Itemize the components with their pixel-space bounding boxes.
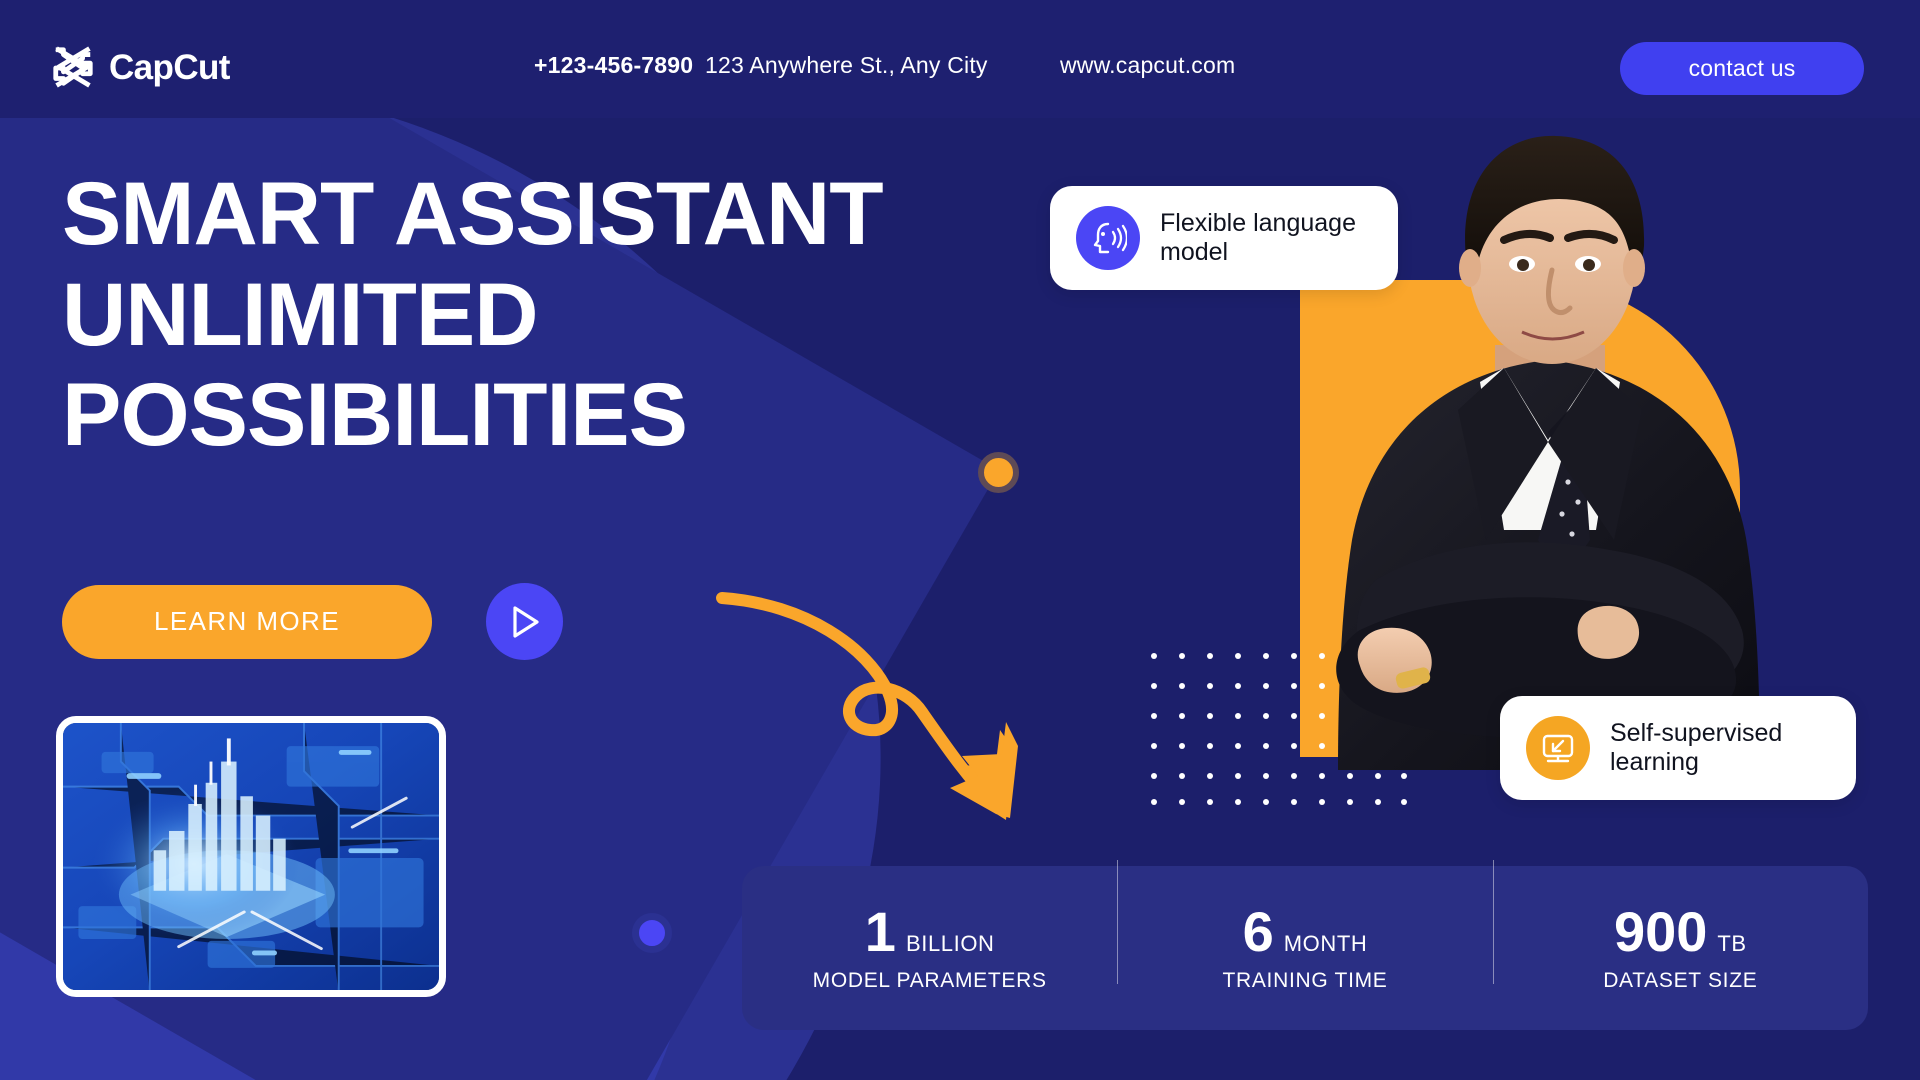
feature-card-label: Self-supervised learning xyxy=(1610,719,1830,778)
stat-unit: MONTH xyxy=(1284,931,1368,957)
stat-item-model-parameters: 1 BILLION MODEL PARAMETERS xyxy=(742,904,1117,993)
headline-line-3: POSSIBILITIES xyxy=(62,373,883,457)
blue-circle-decor xyxy=(632,913,672,953)
monitor-arrow-icon xyxy=(1526,716,1590,780)
learn-more-button[interactable]: LEARN MORE xyxy=(62,585,432,659)
stat-value: 1 xyxy=(865,904,896,960)
hero-cta-row: LEARN MORE xyxy=(62,583,563,660)
stat-value: 900 xyxy=(1614,904,1707,960)
header-website[interactable]: www.capcut.com xyxy=(1060,52,1235,79)
orange-circle-decor xyxy=(978,452,1019,493)
stat-unit: BILLION xyxy=(906,931,995,957)
feature-card-label: Flexible language model xyxy=(1160,209,1372,268)
headline-line-2: UNLIMITED xyxy=(62,273,883,357)
feature-card-self-supervised[interactable]: Self-supervised learning xyxy=(1500,696,1856,800)
speaking-face-icon xyxy=(1076,206,1140,270)
header-address: 123 Anywhere St., Any City xyxy=(705,52,988,79)
contact-us-button[interactable]: contact us xyxy=(1620,42,1864,95)
stat-label: MODEL PARAMETERS xyxy=(813,969,1047,993)
stat-value: 6 xyxy=(1243,904,1274,960)
capcut-logo-icon xyxy=(50,44,96,90)
header-phone[interactable]: +123-456-7890 xyxy=(534,52,693,79)
circuit-city-image xyxy=(63,723,439,994)
hero-thumbnail[interactable] xyxy=(56,716,446,997)
stat-top-row: 6 MONTH xyxy=(1243,904,1368,960)
stat-top-row: 1 BILLION xyxy=(865,904,995,960)
stat-label: TRAINING TIME xyxy=(1222,969,1387,993)
hero-headline: SMART ASSISTANT UNLIMITED POSSIBILITIES xyxy=(62,172,883,457)
brand-logo[interactable]: CapCut xyxy=(50,44,230,90)
stat-label: DATASET SIZE xyxy=(1603,969,1757,993)
play-video-button[interactable] xyxy=(486,583,563,660)
headline-line-1: SMART ASSISTANT xyxy=(62,172,883,256)
feature-card-language-model[interactable]: Flexible language model xyxy=(1050,186,1398,290)
site-header: CapCut +123-456-7890 123 Anywhere St., A… xyxy=(0,0,1920,118)
stat-item-training-time: 6 MONTH TRAINING TIME xyxy=(1117,904,1492,993)
stat-unit: TB xyxy=(1717,931,1746,957)
brand-name: CapCut xyxy=(109,50,230,85)
play-triangle-icon xyxy=(508,604,542,640)
stat-item-dataset-size: 900 TB DATASET SIZE xyxy=(1493,904,1868,993)
curved-looping-arrow-icon xyxy=(710,570,1040,850)
stat-top-row: 900 TB xyxy=(1614,904,1747,960)
stats-bar: 1 BILLION MODEL PARAMETERS 6 MONTH TRAIN… xyxy=(742,866,1868,1030)
